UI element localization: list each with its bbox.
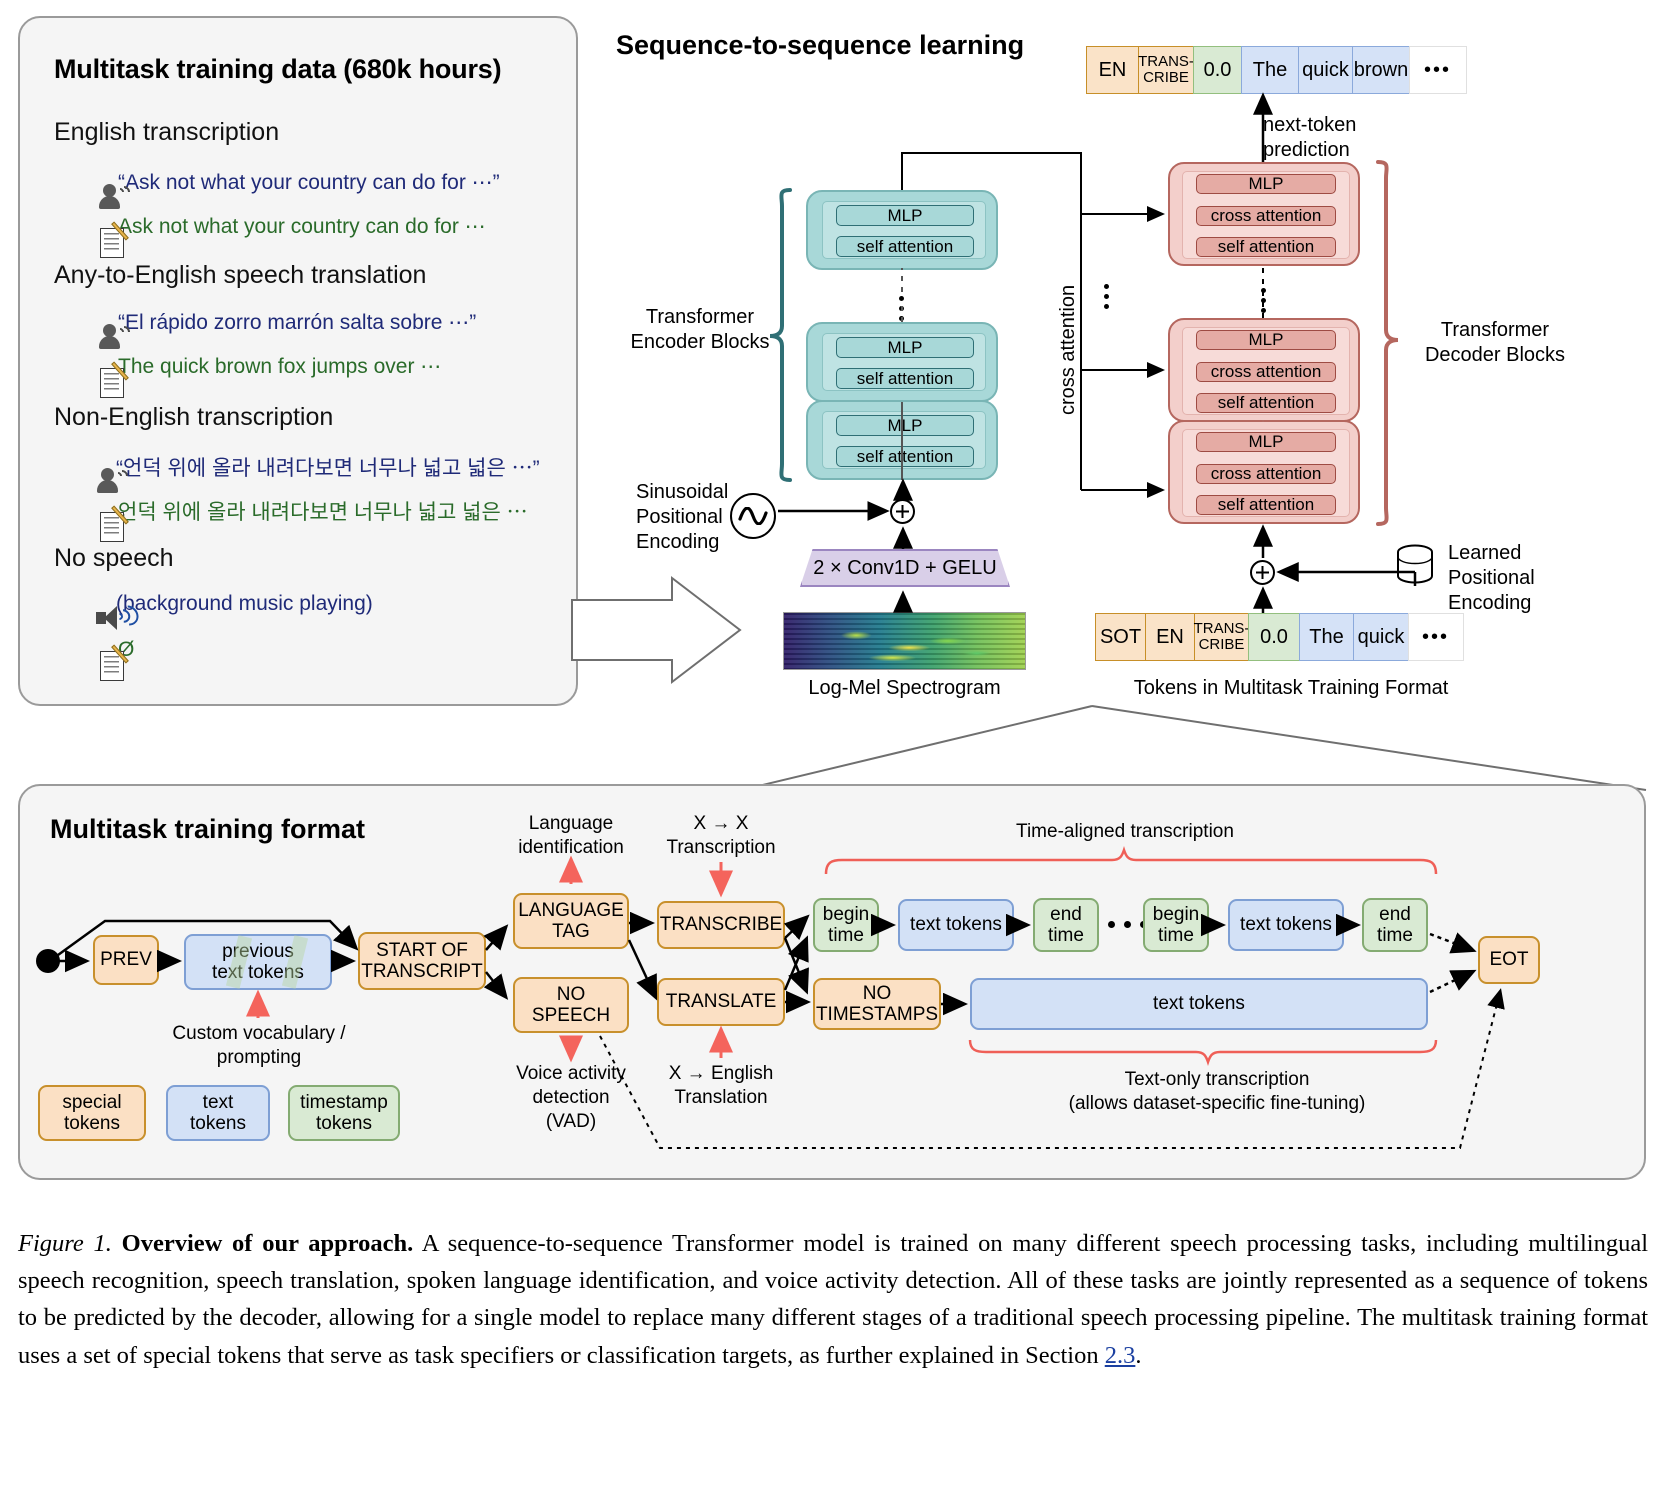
node-end-time-1[interactable]: end time	[1033, 898, 1099, 952]
sinusoidal-positional-encoding-label: Sinusoidal Positional Encoding	[636, 480, 746, 555]
node-prev[interactable]: PREV	[93, 935, 159, 985]
encoder-block-bottom: MLP self attention	[806, 400, 998, 480]
decoder-cross-attention-label: cross attention	[1196, 206, 1336, 226]
annotation-custom-vocabulary: Custom vocabulary / prompting	[166, 1022, 352, 1070]
decoder-ellipsis-icon	[1261, 288, 1266, 313]
sample-audio-text: “El rápido zorro marrón salta sobre ⋯”	[118, 310, 476, 335]
decoder-mlp-label: MLP	[1196, 432, 1336, 452]
decoder-self-attention-label: self attention	[1196, 393, 1336, 413]
node-eot[interactable]: EOT	[1478, 936, 1540, 984]
sample-row-audio: (background music playing)	[76, 592, 373, 616]
caption-figure-number: Figure 1.	[18, 1230, 112, 1257]
annotation-voice-activity-detection: Voice activity detection (VAD)	[498, 1062, 644, 1133]
token-brown[interactable]: brown	[1352, 46, 1410, 94]
section-heading-speech-translation: Any-to-English speech translation	[54, 261, 426, 290]
token-transcribe[interactable]: TRANS- CRIBE	[1138, 46, 1194, 94]
encoder-brace-label: Transformer Encoder Blocks	[620, 305, 780, 355]
node-transcribe[interactable]: TRANSCRIBE	[657, 901, 785, 949]
sample-transcript-text: Ask not what your country can do for ⋯	[118, 214, 486, 239]
node-translate[interactable]: TRANSLATE	[657, 978, 785, 1026]
encoder-block-top: MLP self attention	[806, 190, 998, 270]
node-text-tokens-long[interactable]: text tokens	[970, 978, 1428, 1030]
node-start-of-transcript[interactable]: START OF TRANSCRIPT	[358, 932, 486, 990]
legend-timestamp-tokens: timestamp tokens	[288, 1085, 400, 1141]
token-quick[interactable]: quick	[1298, 46, 1354, 94]
annotation-text-only-transcription: Text-only transcription (allows dataset-…	[1052, 1068, 1382, 1116]
decoder-self-attention-label: self attention	[1196, 495, 1336, 515]
sequence-ellipsis-icon	[1108, 921, 1147, 928]
cross-attention-ellipsis-icon	[1104, 284, 1109, 309]
decoder-block-top: MLP cross attention self attention	[1168, 162, 1360, 266]
sample-row-transcript: Ask not what your country can do for ⋯	[78, 214, 486, 239]
training-data-panel: Multitask training data (680k hours) Eng…	[18, 16, 578, 706]
decoder-self-attention-label: self attention	[1196, 237, 1336, 257]
token-the[interactable]: The	[1299, 613, 1355, 661]
learned-positional-encoding-label: Learned Positional Encoding	[1448, 541, 1578, 616]
sample-transcript-text: 언덕 위에 올라 내려다보면 너무나 넓고 넓은 ⋯	[118, 496, 528, 526]
sample-transcript-text: The quick brown fox jumps over ⋯	[118, 354, 441, 379]
sample-row-audio: “El rápido zorro marrón salta sobre ⋯”	[78, 310, 476, 335]
encoder-mlp-label: MLP	[836, 337, 974, 358]
section-heading-non-english-transcription: Non-English transcription	[54, 403, 333, 432]
training-data-title: Multitask training data (680k hours)	[54, 54, 501, 85]
sample-row-audio: “Ask not what your country can do for ⋯”	[78, 170, 500, 195]
seq2seq-title: Sequence-to-sequence learning	[616, 30, 1024, 61]
output-token-strip: EN TRANS- CRIBE 0.0 The quick brown •••	[1087, 46, 1467, 94]
section-heading-no-speech: No speech	[54, 544, 174, 573]
encoder-mlp-label: MLP	[836, 415, 974, 436]
annotation-x-to-x-transcription: X → X Transcription	[650, 812, 792, 860]
sample-row-transcript: 언덕 위에 올라 내려다보면 너무나 넓고 넓은 ⋯	[78, 496, 528, 526]
decoder-cross-attention-label: cross attention	[1196, 464, 1336, 484]
encoder-ellipsis-icon	[899, 296, 904, 321]
decoder-mlp-label: MLP	[1196, 330, 1336, 350]
caption-section-reference[interactable]: 2.3	[1105, 1342, 1136, 1369]
circled-plus-icon	[1250, 560, 1275, 585]
annotation-x-to-english-translation: X → English Translation	[650, 1062, 792, 1110]
node-previous-text-tokens[interactable]: previous text tokens	[184, 934, 332, 990]
token-the[interactable]: The	[1241, 46, 1299, 94]
token-ellipsis: •••	[1408, 613, 1464, 661]
format-panel-title: Multitask training format	[50, 814, 365, 845]
sample-row-transcript: The quick brown fox jumps over ⋯	[78, 354, 441, 379]
conv1d-gelu-block: 2 × Conv1D + GELU	[800, 549, 1010, 587]
annotation-language-identification: Language identification	[498, 812, 644, 860]
node-begin-time-2[interactable]: begin time	[1143, 898, 1209, 952]
caption-body-end: .	[1135, 1342, 1141, 1369]
sample-audio-text: (background music playing)	[116, 592, 373, 616]
decoder-block-bottom: MLP cross attention self attention	[1168, 420, 1360, 524]
circled-plus-icon	[890, 499, 915, 524]
tokens-caption: Tokens in Multitask Training Format	[1096, 676, 1486, 701]
annotation-time-aligned-transcription: Time-aligned transcription	[1010, 820, 1240, 844]
caption-bold-lead: Overview of our approach.	[122, 1230, 414, 1257]
section-heading-english-transcription: English transcription	[54, 118, 279, 147]
sample-audio-text: “언덕 위에 올라 내려다보면 너무나 넓고 넓은 ⋯”	[116, 452, 540, 482]
next-token-prediction-label: next-token prediction	[1263, 113, 1413, 163]
encoder-block-mid: MLP self attention	[806, 322, 998, 402]
decoder-block-mid: MLP cross attention self attention	[1168, 318, 1360, 422]
sample-row-transcript: Ø	[78, 638, 134, 662]
encoder-self-attention-label: self attention	[836, 236, 974, 257]
cross-attention-axis-label: cross attention	[1035, 255, 1065, 415]
encoder-self-attention-label: self attention	[836, 446, 974, 467]
sample-audio-text: “Ask not what your country can do for ⋯”	[118, 170, 500, 195]
encoder-self-attention-label: self attention	[836, 368, 974, 389]
node-no-speech[interactable]: NO SPEECH	[513, 977, 629, 1033]
figure-caption: Figure 1. Overview of our approach. A se…	[18, 1225, 1648, 1374]
decoder-cross-attention-label: cross attention	[1196, 362, 1336, 382]
log-mel-spectrogram-image	[783, 612, 1026, 670]
node-begin-time-1[interactable]: begin time	[813, 898, 879, 952]
token-en[interactable]: EN	[1086, 46, 1140, 94]
token-en[interactable]: EN	[1145, 613, 1195, 661]
token-ellipsis: •••	[1409, 46, 1467, 94]
decoder-brace-label: Transformer Decoder Blocks	[1410, 318, 1580, 368]
token-timestamp-0[interactable]: 0.0	[1248, 613, 1300, 661]
legend-special-tokens: special tokens	[38, 1085, 146, 1141]
sample-row-audio: “언덕 위에 올라 내려다보면 너무나 넓고 넓은 ⋯”	[76, 452, 540, 482]
token-sot[interactable]: SOT	[1095, 613, 1147, 661]
spectrogram-caption: Log-Mel Spectrogram	[783, 676, 1026, 701]
node-end-time-2[interactable]: end time	[1362, 898, 1428, 952]
decoder-mlp-label: MLP	[1196, 174, 1336, 194]
input-token-strip: SOT EN TRANS- CRIBE 0.0 The quick •••	[1096, 613, 1464, 661]
token-quick[interactable]: quick	[1353, 613, 1409, 661]
node-language-tag[interactable]: LANGUAGE TAG	[513, 893, 629, 949]
node-text-tokens-1[interactable]: text tokens	[898, 899, 1014, 951]
cylinder-database-icon	[1393, 543, 1437, 587]
encoder-mlp-label: MLP	[836, 205, 974, 226]
legend-text-tokens: text tokens	[166, 1085, 270, 1141]
node-text-tokens-2[interactable]: text tokens	[1228, 899, 1344, 951]
token-timestamp-0[interactable]: 0.0	[1193, 46, 1243, 94]
token-transcribe[interactable]: TRANS- CRIBE	[1194, 613, 1250, 661]
node-no-timestamps[interactable]: NO TIMESTAMPS	[813, 978, 941, 1030]
